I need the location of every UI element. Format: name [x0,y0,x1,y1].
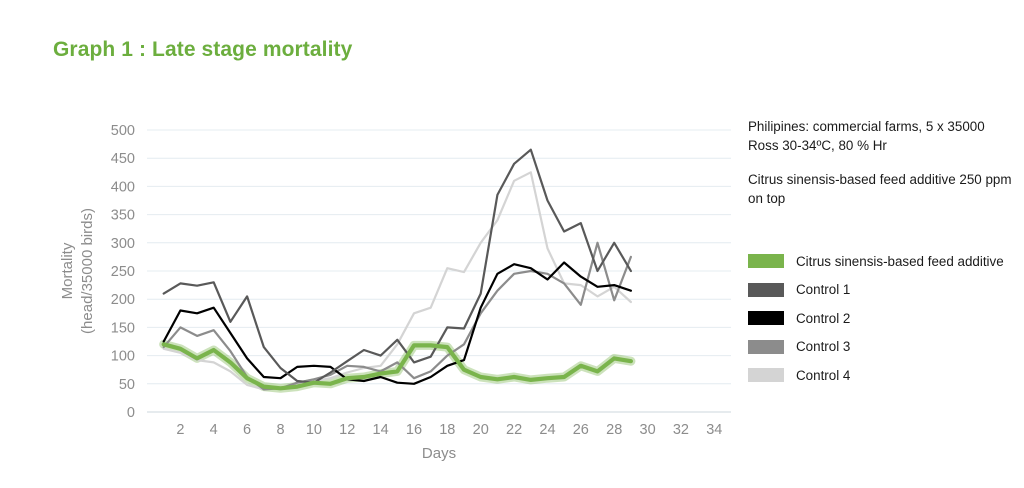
legend-label: Citrus sinensis-based feed additive [796,254,1004,269]
legend-swatch [748,340,784,354]
x-axis-tick-label: 10 [306,422,322,438]
legend-item: Control 2 [748,304,1024,333]
x-axis-tick-label: 6 [243,422,251,438]
x-axis-tick-label: 16 [406,422,422,438]
y-axis-tick-label: 200 [111,292,135,308]
y-axis-tick-label: 500 [111,123,135,139]
legend-label: Control 3 [796,339,850,354]
x-axis-tick-label: 18 [439,422,455,438]
x-axis-tick-label: 22 [506,422,522,438]
x-axis-tick-label: 14 [373,422,389,438]
annotation-treatment: Citrus sinensis-based feed additive 250 … [748,171,1016,208]
line-chart: 0501001502002503003504004505002468101214… [0,0,760,488]
legend-item: Control 1 [748,276,1024,305]
y-axis-tick-label: 100 [111,349,135,365]
x-axis-tick-label: 12 [339,422,355,438]
y-axis-tick-label: 150 [111,320,135,336]
y-axis-tick-label: 50 [119,377,135,393]
y-axis-tick-label: 350 [111,208,135,224]
legend-label: Control 1 [796,282,850,297]
legend-item: Control 4 [748,361,1024,390]
legend-label: Control 4 [796,368,850,383]
y-axis-tick-label: 250 [111,264,135,280]
y-axis-tick-label: 0 [127,405,135,421]
legend-item: Citrus sinensis-based feed additive [748,247,1024,276]
y-axis-title: (head/35000 birds) [79,208,96,334]
x-axis-tick-label: 2 [176,422,184,438]
x-axis-tick-label: 20 [473,422,489,438]
x-axis-tick-label: 4 [210,422,218,438]
legend-item: Control 3 [748,333,1024,362]
y-axis-title: Mortality [59,242,76,299]
y-axis-tick-label: 300 [111,236,135,252]
x-axis-tick-label: 24 [539,422,555,438]
chart-legend: Citrus sinensis-based feed additiveContr… [748,247,1024,390]
x-axis-tick-label: 34 [706,422,722,438]
x-axis-tick-label: 26 [573,422,589,438]
legend-swatch [748,254,784,268]
x-axis-tick-label: 28 [606,422,622,438]
legend-swatch [748,283,784,297]
y-axis-tick-label: 450 [111,151,135,167]
x-axis-tick-label: 30 [640,422,656,438]
x-axis-tick-label: 32 [673,422,689,438]
legend-swatch [748,368,784,382]
chart-annotations: Philipines: commercial farms, 5 x 35000 … [748,118,1016,224]
x-axis-title: Days [422,445,456,462]
x-axis-tick-label: 8 [276,422,284,438]
annotation-trial-conditions: Philipines: commercial farms, 5 x 35000 … [748,118,1016,155]
legend-swatch [748,311,784,325]
chart-container: 0501001502002503003504004505002468101214… [0,0,760,488]
legend-label: Control 2 [796,311,850,326]
y-axis-tick-label: 400 [111,179,135,195]
